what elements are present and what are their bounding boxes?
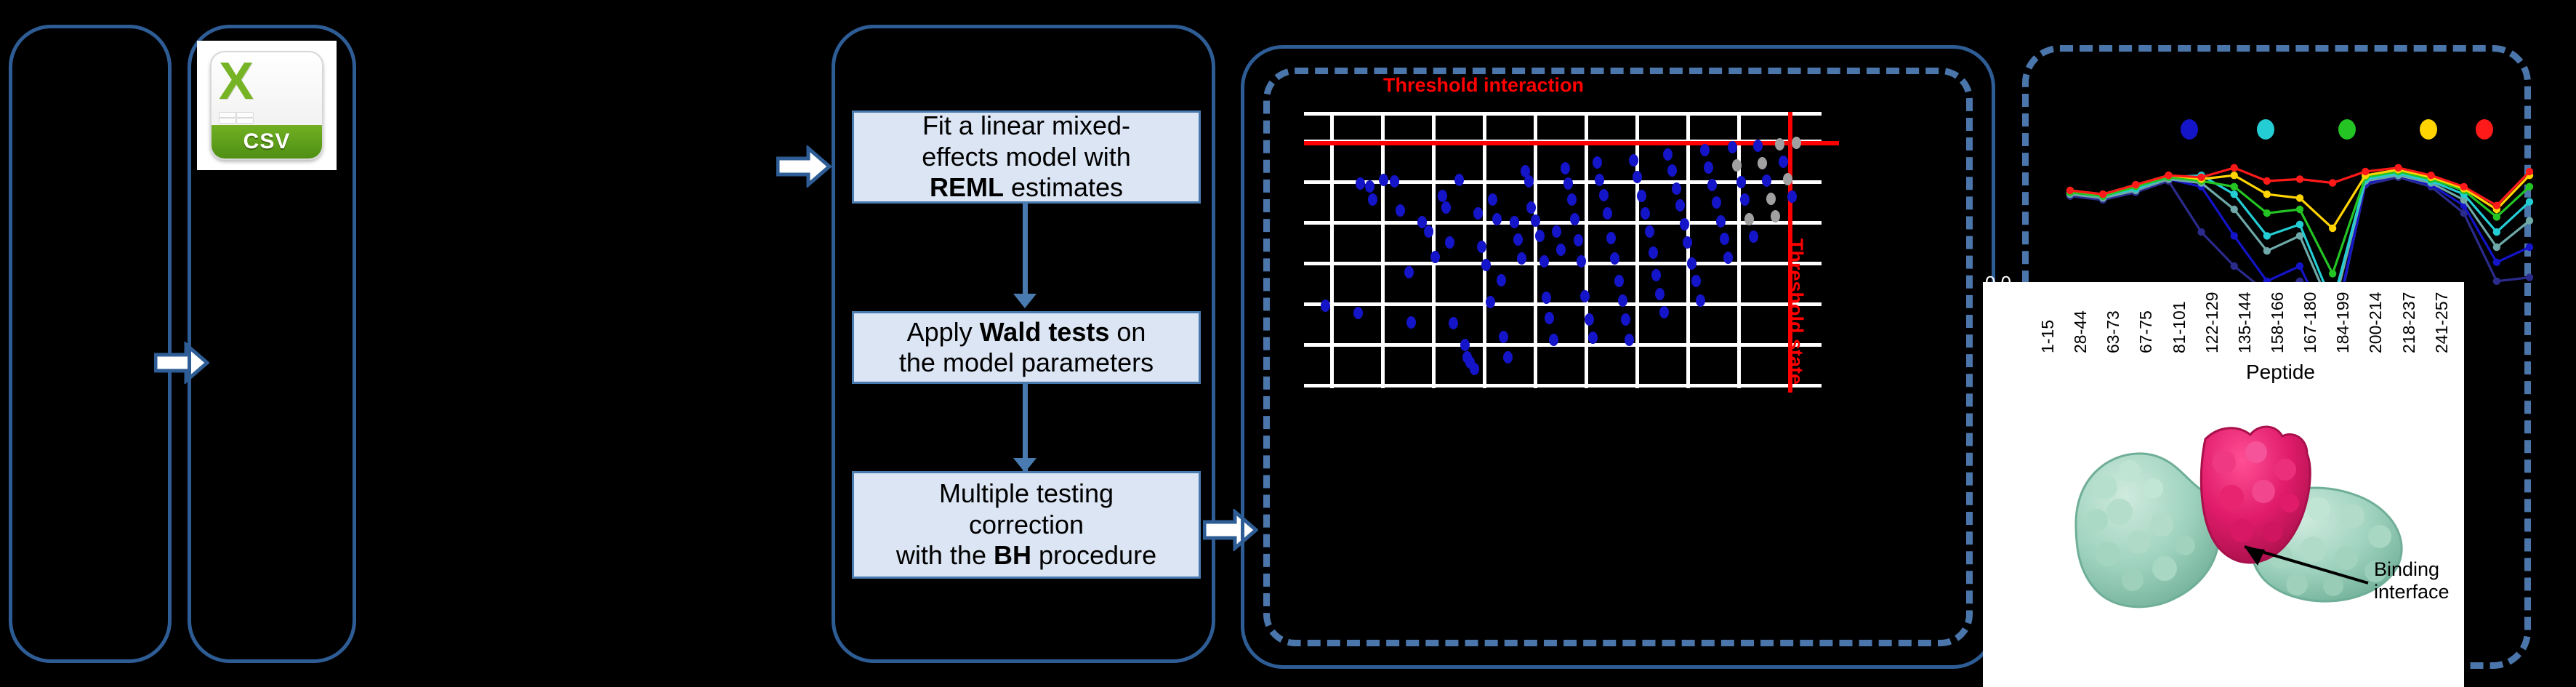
peptide-tick-label: 28-44 <box>2071 310 2090 353</box>
peptide-tick-label: 1-15 <box>2038 320 2058 353</box>
peptide-series-point <box>2526 183 2533 190</box>
scatter-point <box>1618 294 1627 307</box>
peptide-tick-label: 167-180 <box>2301 292 2320 353</box>
peptide-tick-label: 218-237 <box>2399 292 2419 353</box>
peptide-tick-label: 122-129 <box>2202 292 2222 353</box>
panel-input-data[interactable] <box>9 25 172 663</box>
scatter-point <box>1499 331 1508 343</box>
peptide-series-point <box>2099 190 2106 198</box>
scatter-point <box>1723 252 1733 264</box>
peptide-series-point <box>2493 244 2500 251</box>
scatter-point <box>1792 137 1801 149</box>
scatter-point <box>1675 199 1685 212</box>
peptide-series-point <box>2526 198 2533 205</box>
x-axis-title: Peptide <box>2246 361 2315 384</box>
scatter-point <box>1603 207 1612 220</box>
csv-label-text: CSV <box>243 129 291 154</box>
scatter-point <box>1561 162 1570 174</box>
scatter-point <box>1570 213 1579 225</box>
csv-grid-left <box>219 112 254 124</box>
scatter-point <box>1368 193 1377 206</box>
scatter-point <box>1680 218 1689 230</box>
scatter-point <box>1599 189 1609 201</box>
peptide-tick-label: 241-257 <box>2432 292 2452 353</box>
scatter-point <box>1775 138 1784 150</box>
peptide-series-point <box>2493 259 2500 266</box>
scatter-point <box>1766 193 1776 205</box>
scatter-point <box>1691 275 1701 287</box>
peptide-series-point <box>2526 273 2533 281</box>
protein-surface-svg <box>2063 393 2412 647</box>
peptide-series-point <box>2231 190 2238 198</box>
peptide-series-point <box>2066 187 2074 194</box>
scatter-point <box>1379 174 1388 186</box>
scatter-point <box>1667 164 1677 177</box>
peptide-series-point <box>2526 217 2533 224</box>
scatter-point <box>1610 252 1619 265</box>
peptide-series-point <box>2493 213 2500 220</box>
scatter-point <box>1365 180 1374 193</box>
csv-grid-top <box>252 60 318 135</box>
arrow-csv-to-stats <box>776 145 832 188</box>
scatter-point <box>1510 216 1519 228</box>
scatter-point <box>1783 173 1792 185</box>
peptide-tick-label: 81-101 <box>2170 301 2189 353</box>
peptide-series-point <box>2263 232 2271 239</box>
peptide-tick-label: 200-214 <box>2366 292 2386 353</box>
scatter-point <box>1625 334 1634 346</box>
peptide-series-point <box>2493 228 2500 236</box>
scatter-point <box>1659 306 1669 318</box>
binding-interface-line2: interface <box>2374 581 2450 603</box>
scatter-point <box>1539 255 1549 268</box>
csv-file-card: X CSV <box>197 41 337 170</box>
scatter-point <box>1477 241 1486 253</box>
peptide-tick-label: 258-266 <box>2465 292 2484 353</box>
scatter-point <box>1524 175 1534 188</box>
scatter-point <box>1353 307 1363 319</box>
scatter-point <box>1441 201 1451 214</box>
scatter-point <box>1771 210 1780 222</box>
peptide-series-point <box>2263 247 2271 254</box>
connector-arrowhead-2 <box>1013 458 1037 473</box>
scatter-point <box>1517 252 1526 265</box>
scatter-point <box>1707 179 1717 191</box>
scatter-point <box>1779 156 1788 168</box>
scatter-point <box>1700 144 1710 156</box>
scatter-point <box>1488 193 1497 206</box>
scatter-point <box>1481 259 1491 271</box>
peptide-series-point <box>2231 183 2238 190</box>
scatter-point <box>1438 190 1447 202</box>
scatter-point <box>1629 154 1638 166</box>
scatter-point <box>1744 213 1754 225</box>
scatter-point <box>1470 363 1479 375</box>
peptide-series-point <box>2231 262 2238 270</box>
scatter-point <box>1712 196 1721 209</box>
scatter-point <box>1606 232 1616 244</box>
peptide-series-point <box>2263 177 2271 185</box>
scatter-point <box>1720 233 1729 245</box>
scatter-point <box>1758 157 1767 169</box>
legend-dot-cyan <box>2257 119 2274 140</box>
connector-fit-to-wald <box>1023 204 1028 298</box>
workflow-diagram: X CSV Fit a linear mixed-effects model w… <box>0 0 2576 687</box>
scatter-point <box>1396 204 1405 217</box>
peptide-series-point <box>2231 206 2238 213</box>
peptide-series-point <box>2263 190 2271 198</box>
scatter-point <box>1585 313 1594 326</box>
peptide-tick-label: 277-284 <box>2497 292 2517 353</box>
peptide-series-point <box>2493 202 2500 209</box>
scatter-point <box>1404 266 1414 278</box>
scatter-point <box>1732 159 1742 172</box>
peptide-series-point <box>2460 183 2468 190</box>
scatter-point <box>1513 233 1523 246</box>
peptide-series-point <box>2132 181 2139 188</box>
legend-dot-yellow <box>2420 119 2437 140</box>
excel-x-letter: X <box>219 55 254 108</box>
peptide-series-point <box>2197 228 2205 236</box>
protein-structure-image <box>2063 393 2412 647</box>
scatter-point <box>1321 300 1330 312</box>
scatter-point <box>1497 274 1506 286</box>
legend-dot-red <box>2476 119 2493 140</box>
scatter-point <box>1663 148 1673 161</box>
scatter-point <box>1595 174 1604 186</box>
scatter-point <box>1593 156 1602 169</box>
scatter-point <box>1526 201 1536 214</box>
scatter-point <box>1563 177 1573 190</box>
box-wald-tests[interactable]: Apply Wald tests onthe model parameters <box>852 311 1201 384</box>
csv-label-band: CSV <box>212 125 322 158</box>
connector-arrowhead-1 <box>1013 294 1037 308</box>
scatter-point <box>1753 140 1763 152</box>
scatter-point <box>1424 225 1433 238</box>
scatter-point <box>1696 294 1705 307</box>
peptide-series-point <box>2526 244 2533 251</box>
scatter-point <box>1740 193 1750 206</box>
scatter-point <box>1649 246 1658 259</box>
box-multiple-testing-text: Multiple testingcorrectionwith the BH pr… <box>896 478 1156 571</box>
scatter-point <box>1762 174 1771 187</box>
scatter-point <box>1641 207 1650 220</box>
scatter-point <box>1454 174 1464 186</box>
peptide-series-point <box>2197 174 2205 181</box>
peptide-tick-label: 135-144 <box>2235 292 2255 353</box>
peptide-series-point <box>2329 270 2336 277</box>
peptide-series-point <box>2296 206 2303 213</box>
scatter-point <box>1580 290 1590 302</box>
scatter-point <box>1645 225 1654 238</box>
box-fit-model-text: Fit a linear mixed-effects model withREM… <box>922 111 1130 203</box>
scatter-point-group <box>1287 64 1955 602</box>
scatter-point <box>1704 161 1713 174</box>
scatter-point <box>1473 207 1483 220</box>
scatter-point <box>1736 176 1746 188</box>
scatter-point <box>1687 257 1696 270</box>
peptide-series-point <box>2329 179 2336 186</box>
box-fit-model[interactable]: Fit a linear mixed-effects model withREM… <box>852 111 1201 204</box>
peptide-tick-label: 67-75 <box>2136 310 2156 353</box>
csv-file-icon: X CSV <box>210 51 323 160</box>
peptide-chart-legend <box>2028 131 2537 174</box>
scatter-point <box>1577 255 1586 268</box>
scatter-point <box>1535 230 1545 242</box>
peptide-series-point <box>2296 175 2303 182</box>
scatter-point <box>1406 316 1416 329</box>
scatter-point <box>1445 236 1454 249</box>
scatter-point <box>1567 193 1577 206</box>
peptide-series-point <box>2296 262 2303 270</box>
binding-interface-line1: Binding <box>2374 558 2450 581</box>
scatter-plot: Threshold interaction Threshold state <box>1287 64 1955 602</box>
scatter-point <box>1356 177 1365 190</box>
peptide-series-point <box>2296 194 2303 201</box>
scatter-point <box>1651 269 1661 281</box>
peptide-series-point <box>2329 225 2336 232</box>
scatter-point <box>1672 182 1681 195</box>
scatter-point <box>1430 251 1440 263</box>
peptide-series-point <box>2296 221 2303 228</box>
scatter-point <box>1614 275 1624 287</box>
scatter-point <box>1503 351 1513 363</box>
box-multiple-testing[interactable]: Multiple testingcorrectionwith the BH pr… <box>852 471 1201 579</box>
scatter-point <box>1637 190 1646 202</box>
box-wald-tests-text: Apply Wald tests onthe model parameters <box>899 317 1154 379</box>
scatter-point <box>1492 213 1502 225</box>
scatter-point <box>1556 244 1566 256</box>
scatter-point <box>1390 175 1399 188</box>
peptide-series-point <box>2493 278 2500 285</box>
binding-interface-annotation: Binding interface <box>2374 558 2450 603</box>
scatter-point <box>1545 312 1554 324</box>
scatter-point <box>1588 332 1598 344</box>
scatter-point <box>1683 236 1692 249</box>
scatter-point <box>1549 334 1558 346</box>
scatter-point <box>1621 313 1630 326</box>
peptide-series-point <box>2231 232 2238 239</box>
protein-chain-left <box>2076 454 2219 607</box>
scatter-point <box>1449 317 1458 329</box>
legend-dot-green <box>2338 119 2356 140</box>
peptide-tick-label: 63-73 <box>2104 310 2123 353</box>
legend-dot-darkblue <box>2181 119 2198 140</box>
scatter-point <box>1716 215 1726 228</box>
scatter-point <box>1728 141 1737 153</box>
scatter-point <box>1633 171 1642 183</box>
scatter-point <box>1531 214 1540 227</box>
scatter-point <box>1552 225 1561 238</box>
scatter-point <box>1574 234 1583 246</box>
scatter-point <box>1787 190 1797 203</box>
scatter-point <box>1460 339 1470 351</box>
scatter-point <box>1749 230 1758 243</box>
scatter-point <box>1542 292 1551 304</box>
peptide-tick-label: 158-166 <box>2268 292 2287 353</box>
scatter-point <box>1486 296 1495 308</box>
scatter-point <box>1655 288 1665 300</box>
peptide-tick-label: 184-199 <box>2333 292 2353 353</box>
peptide-series-point <box>2263 209 2271 217</box>
